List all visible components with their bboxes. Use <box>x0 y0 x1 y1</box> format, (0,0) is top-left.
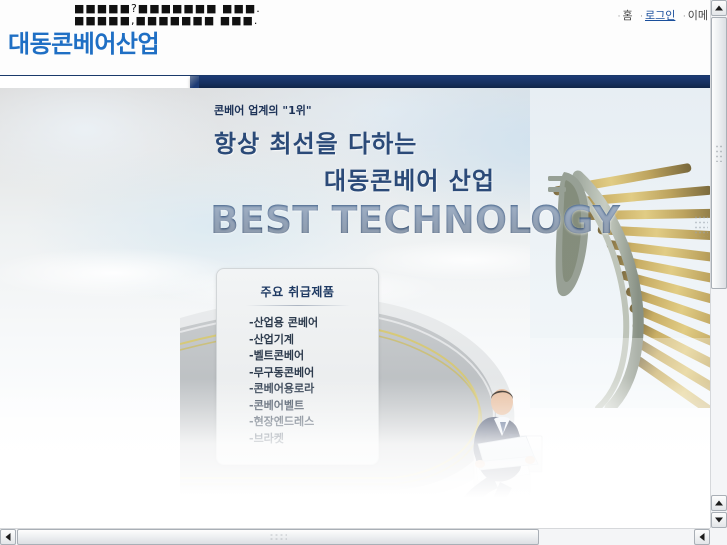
vertical-scrollbar[interactable] <box>710 0 727 528</box>
banner-headline-group: 콘베어 업계의 "1위" 항상 최선을 다하는 대동콘베어 산업 BEST TE… <box>206 102 626 242</box>
scroll-up-button[interactable] <box>711 0 727 16</box>
scroll-left-button[interactable] <box>0 529 16 545</box>
nav-separator-icon: · <box>683 12 686 22</box>
list-item[interactable]: -산업용 콘베어 <box>249 315 378 332</box>
horizontal-scrollbar-thumb[interactable] <box>17 529 539 545</box>
scrollbar-grip-icon <box>715 144 723 162</box>
nav-separator-icon: · <box>618 12 621 22</box>
arrow-up-icon <box>715 501 723 506</box>
page-content: ■■■■■?■■■■■■■ ■■■. ■■■■■,■■■■■■■ ■■■. 대동… <box>0 0 710 528</box>
banner-headline-line-3: BEST TECHNOLOGY <box>210 198 626 242</box>
list-item[interactable]: -벨트콘베어 <box>249 348 378 365</box>
horizontal-scrollbar[interactable] <box>0 528 727 545</box>
nav-item-login[interactable]: 로그인 <box>645 9 675 22</box>
scroll-left-button-secondary[interactable] <box>694 529 710 545</box>
nav-separator-icon: · <box>640 12 643 22</box>
list-item[interactable]: -산업기계 <box>249 332 378 349</box>
texture-dot-grid <box>694 215 708 237</box>
site-header: ■■■■■?■■■■■■■ ■■■. ■■■■■,■■■■■■■ ■■■. 대동… <box>0 0 710 76</box>
products-panel-title: 주요 취급제품 <box>217 283 378 300</box>
banner-bottom-fade <box>0 378 710 498</box>
arrow-down-icon <box>715 518 723 523</box>
arrow-left-icon <box>700 533 705 541</box>
window-resize-grip[interactable] <box>710 528 727 545</box>
banner-headline-line-2: 대동콘베어 산업 <box>324 161 626 196</box>
utility-nav: ·홈 ·로그인 ·이메 <box>614 7 708 23</box>
scroll-up-button-secondary[interactable] <box>711 495 727 511</box>
nav-item-email[interactable]: 이메 <box>688 9 708 22</box>
main-menu-bar[interactable] <box>190 76 710 88</box>
hero-banner: 주요 취급제품 -산업용 콘베어 -산업기계 -벨트콘베어 -무구동콘베어 -콘… <box>0 88 710 498</box>
arrow-up-icon <box>715 6 723 11</box>
products-title-divider <box>246 305 350 306</box>
arrow-left-icon <box>6 533 11 541</box>
vertical-scrollbar-thumb[interactable] <box>711 17 727 289</box>
menu-bar-notch <box>190 76 199 88</box>
site-logo[interactable]: 대동콘베어산업 <box>8 24 159 59</box>
scrollbar-grip-icon <box>269 533 287 542</box>
browser-viewport: ■■■■■?■■■■■■■ ■■■. ■■■■■,■■■■■■■ ■■■. 대동… <box>0 0 727 545</box>
banner-headline-line-1: 항상 최선을 다하는 <box>214 124 626 159</box>
banner-tagline: 콘베어 업계의 "1위" <box>214 102 626 118</box>
nav-item-home[interactable]: 홈 <box>623 9 633 22</box>
scroll-down-button[interactable] <box>711 512 727 528</box>
